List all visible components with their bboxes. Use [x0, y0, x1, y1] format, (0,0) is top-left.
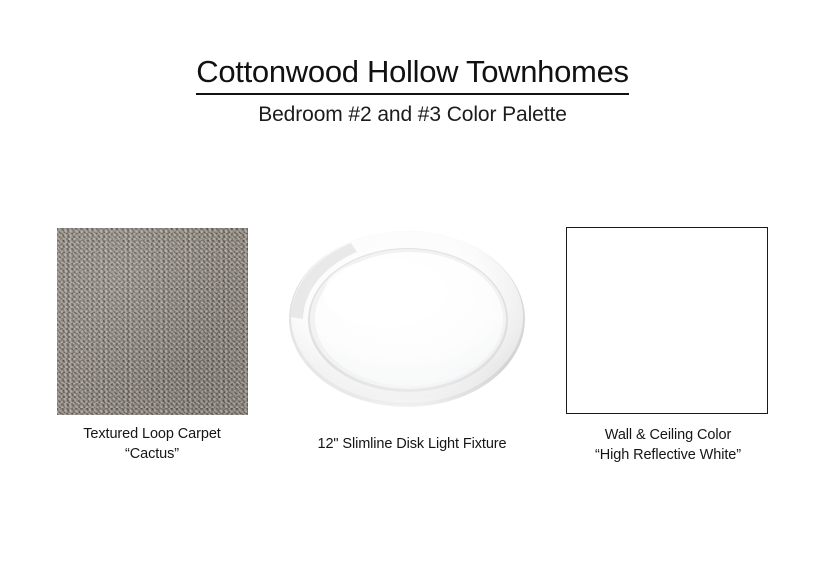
- color-palette-page: Cottonwood Hollow Townhomes Bedroom #2 a…: [0, 0, 825, 574]
- carpet-swatch: [57, 228, 248, 415]
- light-fixture-caption: 12" Slimline Disk Light Fixture: [286, 434, 538, 454]
- carpet-caption-line1: Textured Loop Carpet: [83, 426, 220, 442]
- paint-color-swatch: [566, 227, 768, 414]
- page-title: Cottonwood Hollow Townhomes: [196, 52, 628, 95]
- light-fixture-caption-line1: 12" Slimline Disk Light Fixture: [317, 436, 506, 452]
- carpet-caption-line2: “Cactus”: [34, 444, 270, 464]
- paint-caption-line1: Wall & Ceiling Color: [605, 427, 731, 443]
- palette-row: Textured Loop Carpet “Cactus”: [0, 226, 825, 476]
- page-header: Cottonwood Hollow Townhomes Bedroom #2 a…: [0, 52, 825, 129]
- carpet-caption: Textured Loop Carpet “Cactus”: [34, 424, 270, 464]
- paint-caption-line2: “High Reflective White”: [556, 445, 780, 465]
- paint-caption: Wall & Ceiling Color “High Reflective Wh…: [556, 425, 780, 465]
- page-subtitle: Bedroom #2 and #3 Color Palette: [0, 101, 825, 129]
- light-fixture-image: [286, 225, 538, 417]
- disk-light-icon: [286, 225, 538, 417]
